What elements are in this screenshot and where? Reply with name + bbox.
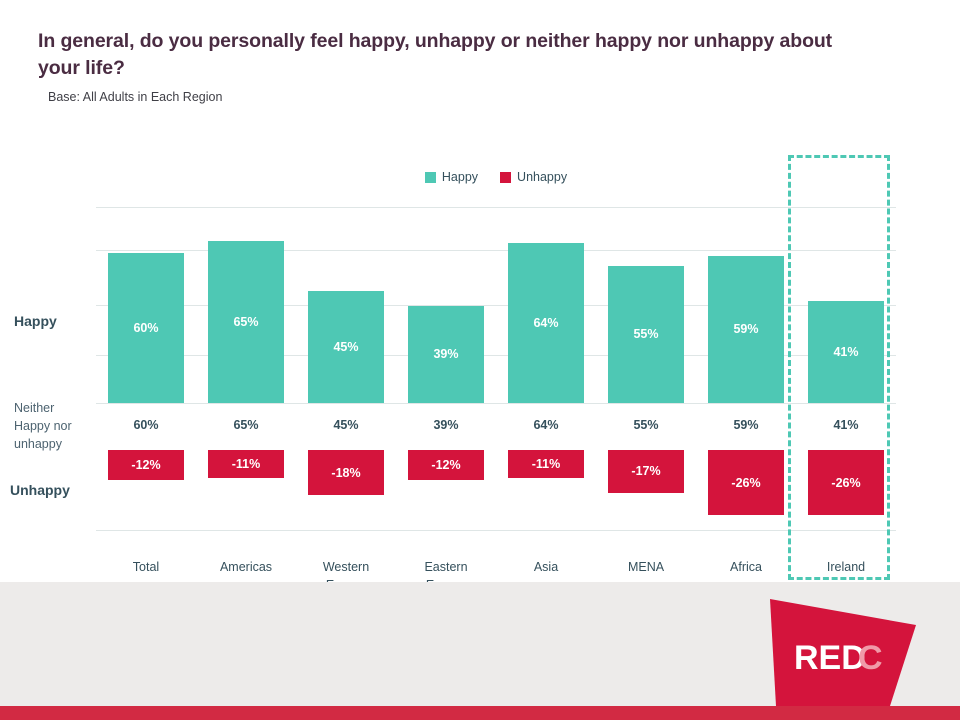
chart-plot-area: Happy Unhappy 60%60%-12%Total65%65%-11%A… (96, 150, 896, 560)
bar-unhappy[interactable]: -17% (608, 450, 684, 493)
value-neither: 39% (396, 418, 496, 432)
bar-unhappy[interactable]: -11% (208, 450, 284, 478)
bar-value-unhappy: -18% (331, 466, 360, 480)
svg-text:C: C (858, 639, 883, 677)
bar-value-unhappy: -12% (131, 458, 160, 472)
x-axis-label: MENA (596, 558, 696, 576)
bar-value-unhappy: -11% (232, 457, 261, 471)
bar-value-happy: 45% (333, 340, 358, 354)
bar-value-unhappy: -12% (431, 458, 460, 472)
bar-unhappy[interactable]: -26% (708, 450, 784, 515)
bar-value-unhappy: -17% (631, 464, 660, 478)
bar-value-unhappy: -11% (532, 457, 561, 471)
x-axis-label: Asia (496, 558, 596, 576)
bar-happy[interactable]: 39% (408, 306, 484, 404)
bar-happy[interactable]: 59% (708, 256, 784, 404)
chart-column: 39%39%-12%EasternEurope (396, 150, 496, 560)
x-axis-label: Total (96, 558, 196, 576)
chart-columns: 60%60%-12%Total65%65%-11%Americas45%45%-… (96, 150, 896, 560)
value-neither: 55% (596, 418, 696, 432)
value-neither: 60% (96, 418, 196, 432)
bar-unhappy[interactable]: -11% (508, 450, 584, 478)
bar-happy[interactable]: 45% (308, 291, 384, 404)
bar-value-happy: 41% (833, 345, 858, 359)
chart-column: 55%55%-17%MENA (596, 150, 696, 560)
value-neither: 45% (296, 418, 396, 432)
row-label-unhappy: Unhappy (10, 482, 70, 498)
row-label-happy: Happy (14, 313, 57, 329)
bar-value-happy: 39% (433, 347, 458, 361)
footer-stripe (0, 706, 960, 720)
x-axis-label: Ireland (796, 558, 896, 576)
value-neither: 64% (496, 418, 596, 432)
bar-unhappy[interactable]: -18% (308, 450, 384, 495)
chart-column: 65%65%-11%Americas (196, 150, 296, 560)
bar-happy[interactable]: 64% (508, 243, 584, 403)
bar-value-happy: 59% (733, 322, 758, 336)
chart-column: 41%41%-26%Ireland (796, 150, 896, 560)
value-neither: 65% (196, 418, 296, 432)
bar-happy[interactable]: 65% (208, 241, 284, 404)
x-axis-label: Americas (196, 558, 296, 576)
value-neither: 59% (696, 418, 796, 432)
svg-text:RED: RED (794, 639, 866, 677)
bar-happy[interactable]: 41% (808, 301, 884, 404)
chart-column: 59%59%-26%Africa (696, 150, 796, 560)
bar-happy[interactable]: 60% (108, 253, 184, 403)
bar-happy[interactable]: 55% (608, 266, 684, 404)
chart-base-note: Base: All Adults in Each Region (48, 90, 222, 104)
chart-column: 60%60%-12%Total (96, 150, 196, 560)
chart-column: 64%64%-11%Asia (496, 150, 596, 560)
row-label-neither: NeitherHappy norunhappy (14, 399, 72, 453)
bar-unhappy[interactable]: -12% (408, 450, 484, 480)
bar-value-happy: 65% (233, 315, 258, 329)
bar-unhappy[interactable]: -12% (108, 450, 184, 480)
bar-value-unhappy: -26% (731, 476, 760, 490)
redc-logo: RED C (740, 591, 916, 706)
x-axis-label: Africa (696, 558, 796, 576)
bar-value-happy: 55% (633, 327, 658, 341)
bar-value-happy: 64% (533, 316, 558, 330)
chart-column: 45%45%-18%WesternEurope (296, 150, 396, 560)
bar-value-unhappy: -26% (831, 476, 860, 490)
value-neither: 41% (796, 418, 896, 432)
bar-unhappy[interactable]: -26% (808, 450, 884, 515)
bar-value-happy: 60% (133, 321, 158, 335)
page-title: In general, do you personally feel happy… (38, 28, 868, 82)
